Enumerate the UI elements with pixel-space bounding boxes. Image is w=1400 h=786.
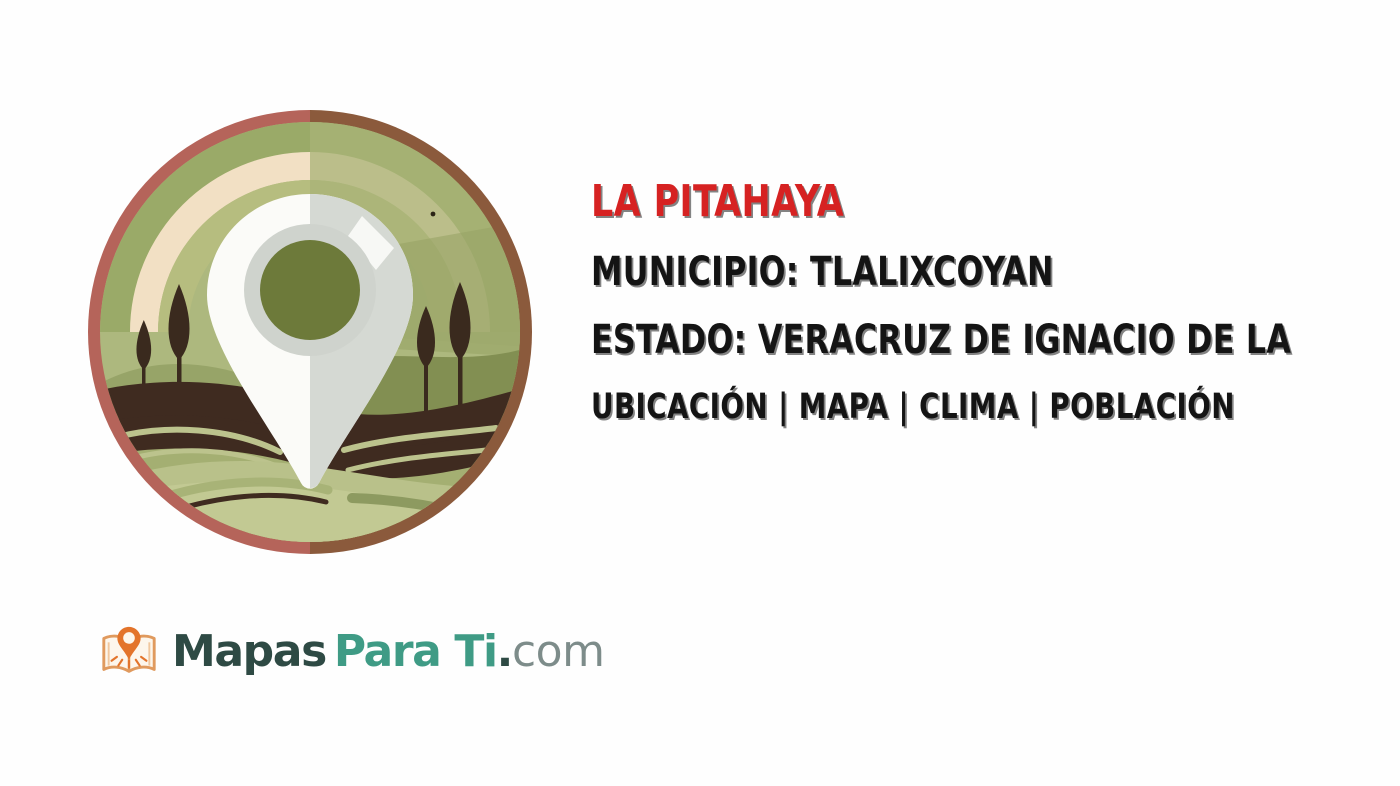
brand-mapas: Mapas	[172, 630, 326, 674]
brand-lockup[interactable]: Mapas Para Ti . com	[98, 616, 604, 688]
open-book-map-pin-icon	[98, 621, 160, 683]
brand-com: com	[512, 630, 604, 674]
section-nav-line: UBICACIÓN | MAPA | CLIMA | POBLACIÓN	[591, 390, 1313, 425]
brand-dot: .	[497, 630, 512, 674]
estado-line: ESTADO: VERACRUZ DE IGNACIO DE LA	[591, 320, 1313, 360]
place-title: LA PITAHAYA	[591, 180, 1313, 224]
municipio-line: MUNICIPIO: TLALIXCOYAN	[591, 252, 1313, 292]
emblem-illustration	[76, 98, 544, 566]
emblem-bird-speck	[431, 212, 436, 217]
page-root: Mapas Para Ti . com LA PITAHAYA MUNICIPI…	[0, 0, 1400, 786]
emblem	[76, 98, 544, 566]
brand-wordmark: Mapas Para Ti . com	[172, 630, 604, 674]
info-block: LA PITAHAYA MUNICIPIO: TLALIXCOYAN ESTAD…	[591, 180, 1400, 425]
brand-parati: Para Ti	[334, 630, 497, 674]
